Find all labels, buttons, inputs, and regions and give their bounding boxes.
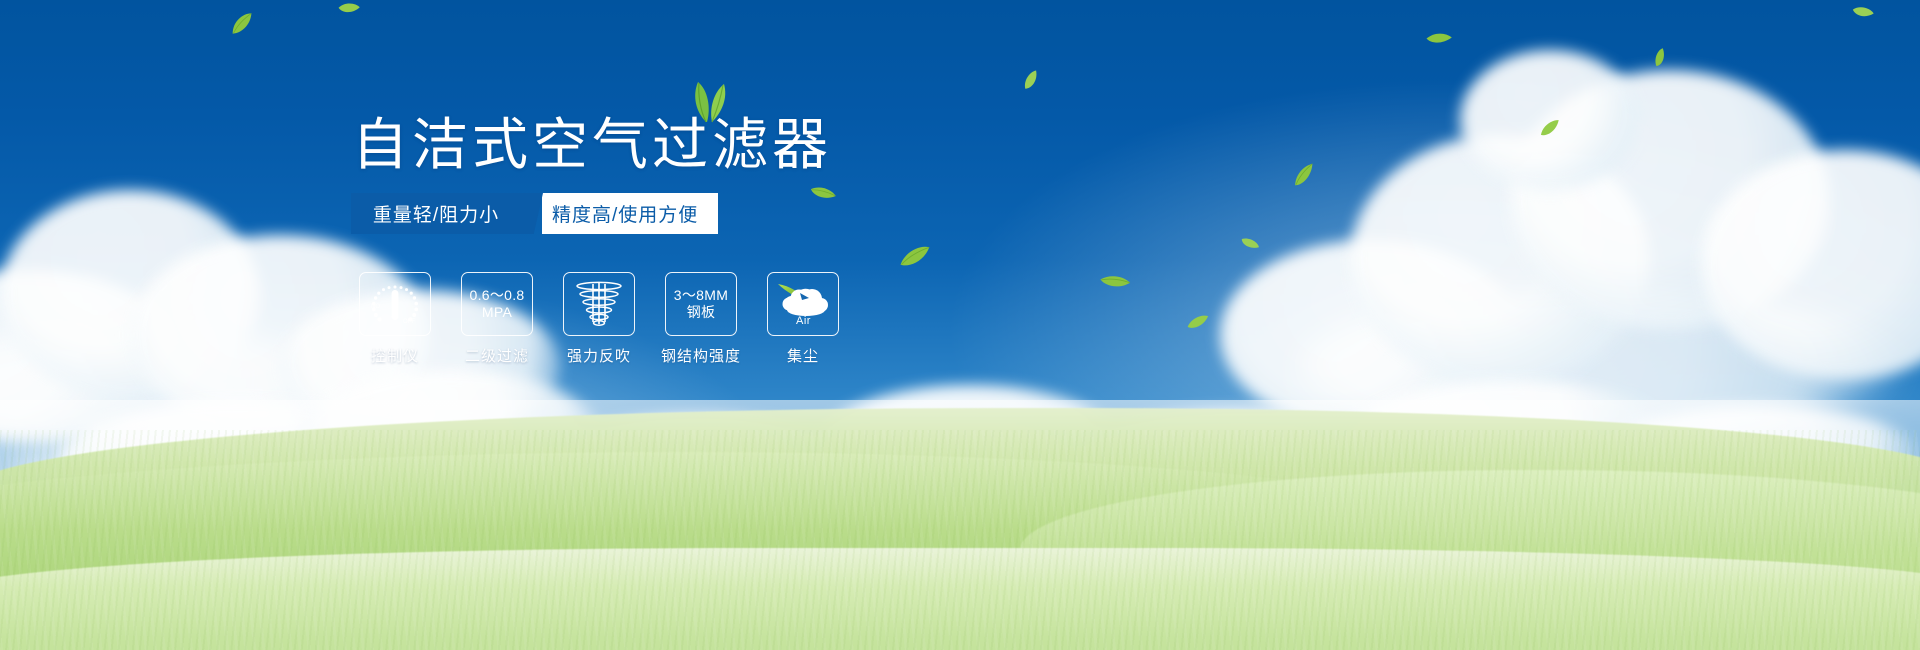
feature-label: 钢结构强度	[661, 345, 741, 366]
title-block: 自洁式空气过滤器	[352, 112, 832, 178]
badge-primary: 重量轻/阻力小	[351, 193, 521, 234]
feature-item: 3～8MM 钢板 钢结构强度	[664, 272, 738, 366]
feature-icon-box	[563, 272, 635, 336]
feature-icon-row: NO OFF 控制仪 0.6～0.8 MPA 二级过滤	[358, 272, 840, 366]
sprout-leaves-icon	[682, 78, 738, 129]
feature-icon-box: NO OFF	[359, 272, 431, 336]
pressure-unit-text: MPA	[482, 304, 512, 321]
page-title: 自洁式空气过滤器	[352, 112, 832, 178]
control-dial-icon: NO OFF	[368, 281, 422, 327]
feature-icon-box: Air	[767, 272, 839, 336]
feature-label: 强力反吹	[567, 345, 631, 366]
badge-divider-skew	[521, 193, 543, 234]
feature-icon-box: 0.6～0.8 MPA	[461, 272, 533, 336]
feature-label: 控制仪	[371, 345, 419, 366]
steel-plate-icon: 3～8MM	[674, 287, 728, 304]
pressure-value-icon: 0.6～0.8	[469, 287, 524, 304]
feature-item: NO OFF 控制仪	[358, 272, 432, 366]
feature-icon-box: 3～8MM 钢板	[665, 272, 737, 336]
svg-text:NO: NO	[371, 304, 380, 310]
air-label-text: Air	[796, 315, 811, 327]
feature-label: 二级过滤	[465, 345, 529, 366]
badge-secondary: 精度高/使用方便	[542, 193, 718, 234]
feature-item: 0.6～0.8 MPA 二级过滤	[460, 272, 534, 366]
svg-text:OFF: OFF	[403, 319, 415, 325]
product-hero-banner: 自洁式空气过滤器 重量轻/阻力小 精度高/使用方便	[0, 0, 1920, 650]
feature-label: 集尘	[787, 345, 819, 366]
feature-item: 强力反吹	[562, 272, 636, 366]
steel-plate-material-text: 钢板	[687, 304, 716, 321]
air-cloud-icon: Air	[774, 280, 832, 328]
banner-content: 自洁式空气过滤器 重量轻/阻力小 精度高/使用方便	[0, 0, 1920, 650]
feature-item: Air 集尘	[766, 272, 840, 366]
tagline-badges: 重量轻/阻力小 精度高/使用方便	[351, 193, 718, 234]
reverse-blow-coil-icon	[574, 280, 624, 328]
